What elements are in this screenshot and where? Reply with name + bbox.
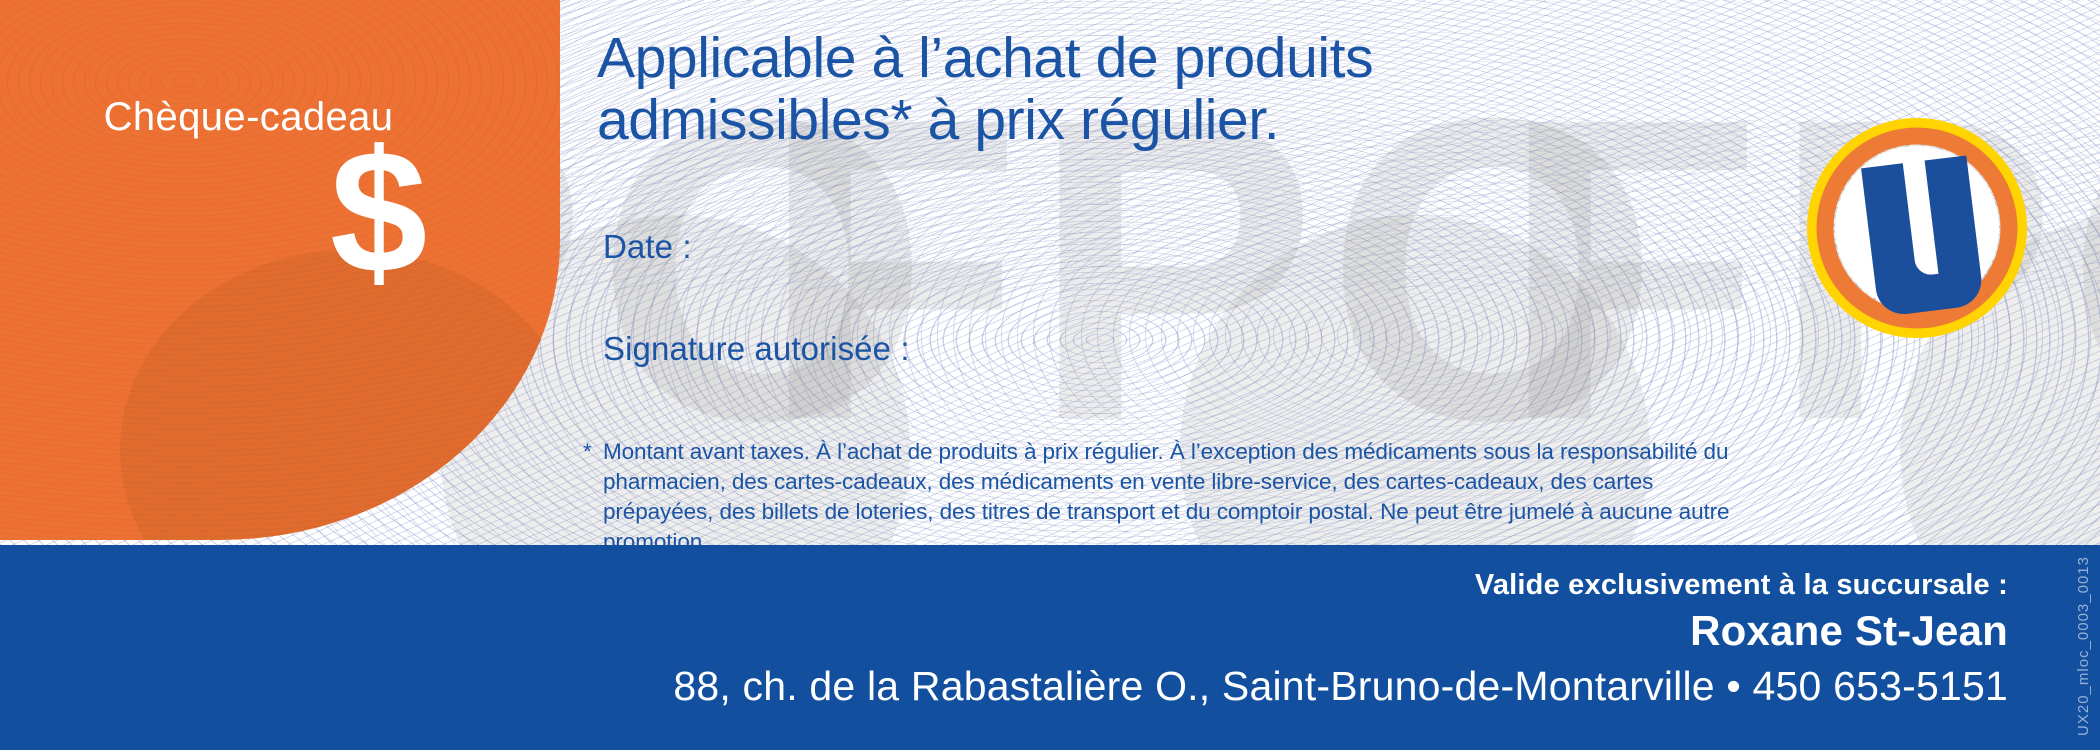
store-name: Roxane St-Jean: [1690, 607, 2008, 655]
reference-code: UX20_mloc_0003_0013: [2075, 556, 2092, 736]
dollar-sign-icon: $: [330, 125, 427, 300]
disclaimer-text: * Montant avant taxes. À l’achat de prod…: [583, 437, 1733, 557]
headline-line-1: Applicable à l’achat de produits: [597, 26, 1373, 90]
disclaimer-asterisk: *: [583, 437, 592, 467]
uniprix-logo-svg: [1807, 118, 2027, 338]
date-field-label[interactable]: Date :: [603, 228, 692, 266]
store-address: 88, ch. de la Rabastalière O., Saint-Bru…: [673, 663, 2008, 710]
validity-label: Valide exclusivement à la succursale :: [1475, 569, 2008, 602]
signature-field-label[interactable]: Signature autorisée :: [603, 330, 910, 368]
uniprix-logo: [1807, 118, 2027, 338]
page-headline: Applicable à l’achat de produits admissi…: [597, 28, 1657, 151]
footer-bar: Valide exclusivement à la succursale : R…: [0, 545, 2100, 750]
headline-line-2: admissibles* à prix régulier.: [597, 90, 1657, 152]
gift-certificate-card: FPO FPO FPO Chèque-cadeau $ Applicable à…: [0, 0, 2100, 750]
orange-panel: [0, 0, 560, 540]
disclaimer-body: Montant avant taxes. À l’achat de produi…: [603, 437, 1733, 557]
